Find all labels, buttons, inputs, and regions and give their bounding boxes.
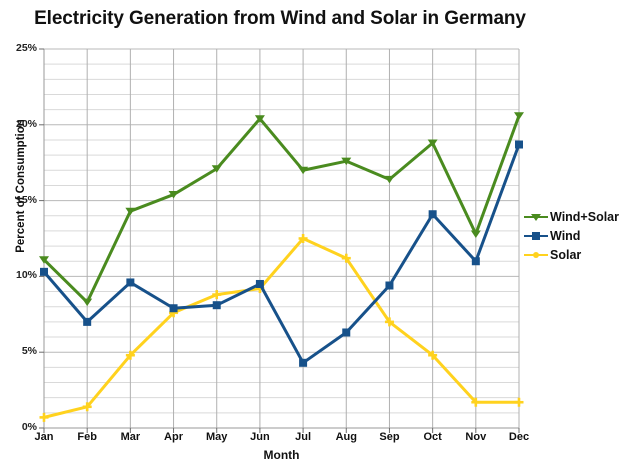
data-point-marker	[213, 301, 221, 309]
chart-legend: Wind+SolarWindSolar	[524, 207, 623, 264]
data-point-marker	[514, 112, 524, 120]
legend-item-solar[interactable]: Solar	[524, 245, 623, 264]
y-axis-tick-label: 10%	[0, 269, 37, 281]
x-axis-title: Month	[44, 448, 519, 462]
data-point-marker	[40, 268, 48, 276]
data-point-marker	[40, 413, 49, 422]
data-point-marker	[515, 398, 524, 407]
data-point-marker	[256, 280, 264, 288]
y-axis-tick-label: 5%	[0, 345, 37, 357]
legend-item-wind-plus-solar[interactable]: Wind+Solar	[524, 207, 623, 226]
legend-swatch-icon	[524, 210, 548, 224]
legend-item-label: Solar	[550, 248, 581, 262]
chart-container: Electricity Generation from Wind and Sol…	[0, 0, 623, 467]
data-point-marker	[170, 304, 178, 312]
legend-swatch-icon	[524, 248, 548, 262]
legend-swatch-icon	[524, 229, 548, 243]
legend-item-label: Wind	[550, 229, 580, 243]
data-point-marker	[126, 278, 134, 286]
legend-item-wind[interactable]: Wind	[524, 226, 623, 245]
legend-marker-icon	[533, 252, 539, 258]
data-point-marker	[82, 299, 92, 307]
y-axis-tick-label: 25%	[0, 42, 37, 54]
series-wind	[40, 141, 523, 367]
y-axis-tick-label: 15%	[0, 194, 37, 206]
data-point-marker	[385, 282, 393, 290]
series-line	[44, 116, 519, 302]
data-point-marker	[384, 176, 394, 184]
series-solar	[40, 234, 524, 422]
data-point-marker	[299, 359, 307, 367]
legend-marker-icon	[531, 214, 541, 221]
legend-marker-icon	[532, 232, 540, 240]
series-wind-plus-solar	[39, 112, 524, 306]
y-axis-title: Percent of Consumption	[15, 86, 27, 286]
data-point-marker	[342, 328, 350, 336]
series-line	[44, 239, 519, 418]
data-point-marker	[429, 210, 437, 218]
data-point-marker	[83, 318, 91, 326]
chart-title: Electricity Generation from Wind and Sol…	[0, 8, 560, 30]
data-point-marker	[515, 141, 523, 149]
data-point-marker	[472, 257, 480, 265]
y-axis-tick-label: 20%	[0, 118, 37, 130]
legend-item-label: Wind+Solar	[550, 210, 619, 224]
x-axis-tick-label: Dec	[494, 431, 544, 443]
data-point-marker	[471, 230, 481, 238]
